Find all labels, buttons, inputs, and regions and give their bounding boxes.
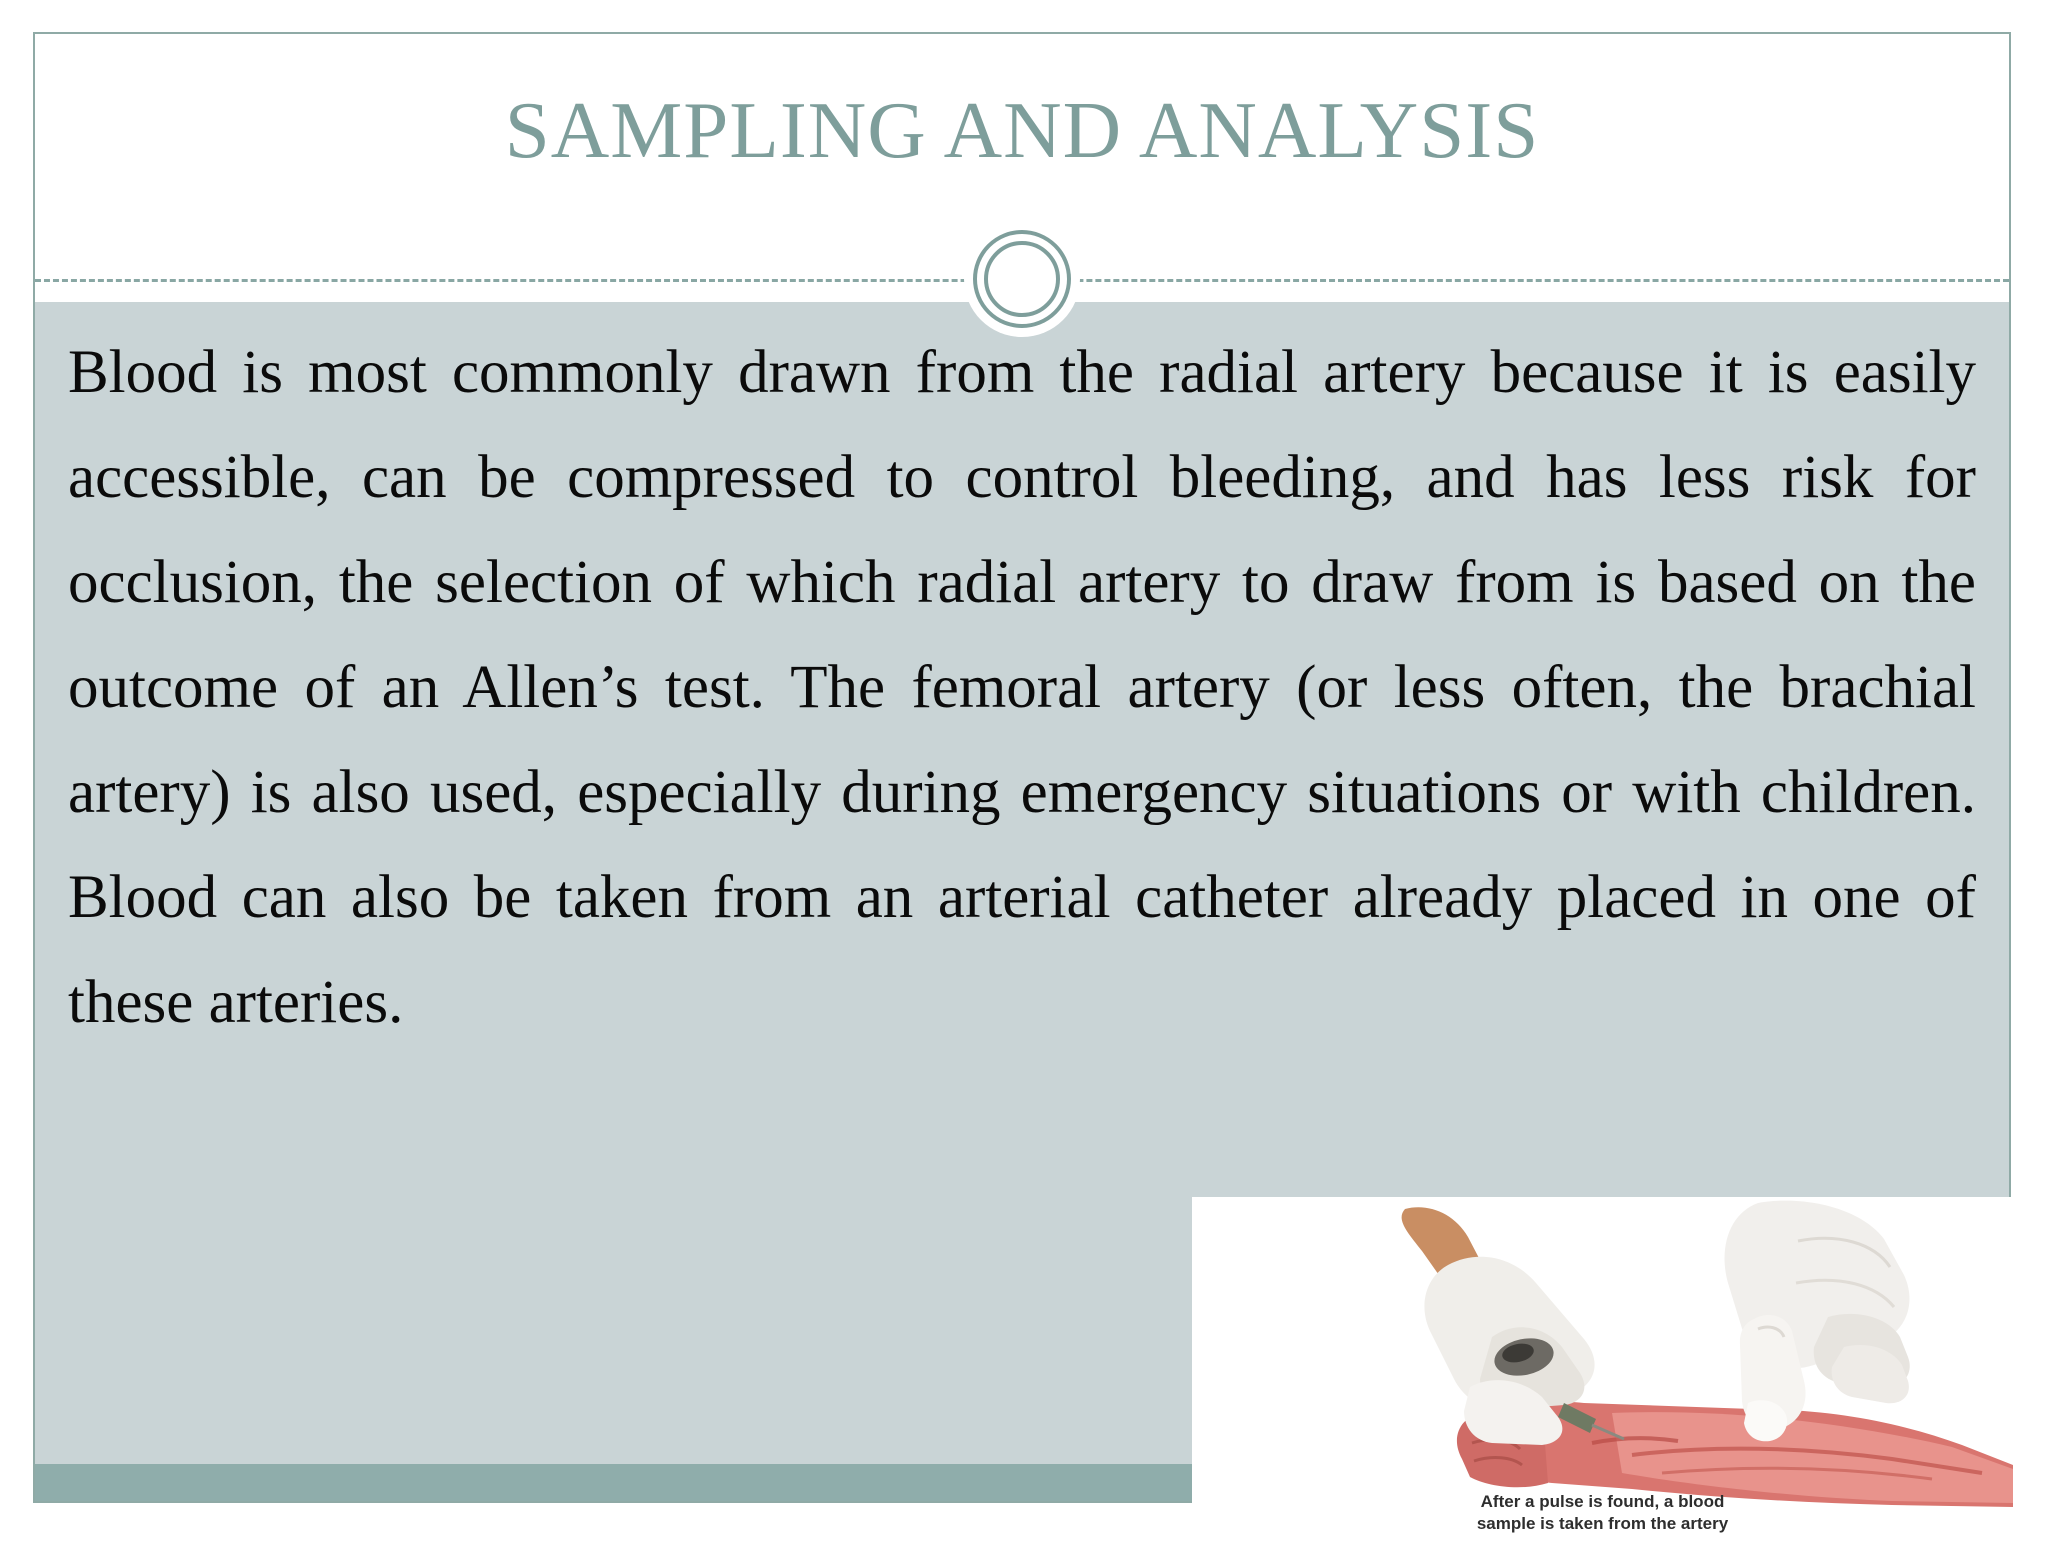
body-left-fill	[35, 1227, 1192, 1464]
body-paragraph: Blood is most commonly drawn from the ra…	[68, 320, 1976, 1055]
slide: SAMPLING AND ANALYSIS Blood is most comm…	[33, 32, 2011, 1503]
procedure-image: After a pulse is found, a blood sample i…	[1192, 1197, 2013, 1541]
page-title: SAMPLING AND ANALYSIS	[35, 90, 2009, 171]
image-caption: After a pulse is found, a blood sample i…	[1192, 1491, 2013, 1535]
image-caption-line-1: After a pulse is found, a blood	[1192, 1491, 2013, 1513]
arterial-blood-draw-illustration	[1192, 1197, 2013, 1541]
circle-decoration-icon	[973, 230, 1071, 328]
footer-bar	[35, 1464, 1192, 1501]
slide-body: Blood is most commonly drawn from the ra…	[35, 302, 2009, 1501]
image-caption-line-2: sample is taken from the artery	[1192, 1513, 2013, 1535]
